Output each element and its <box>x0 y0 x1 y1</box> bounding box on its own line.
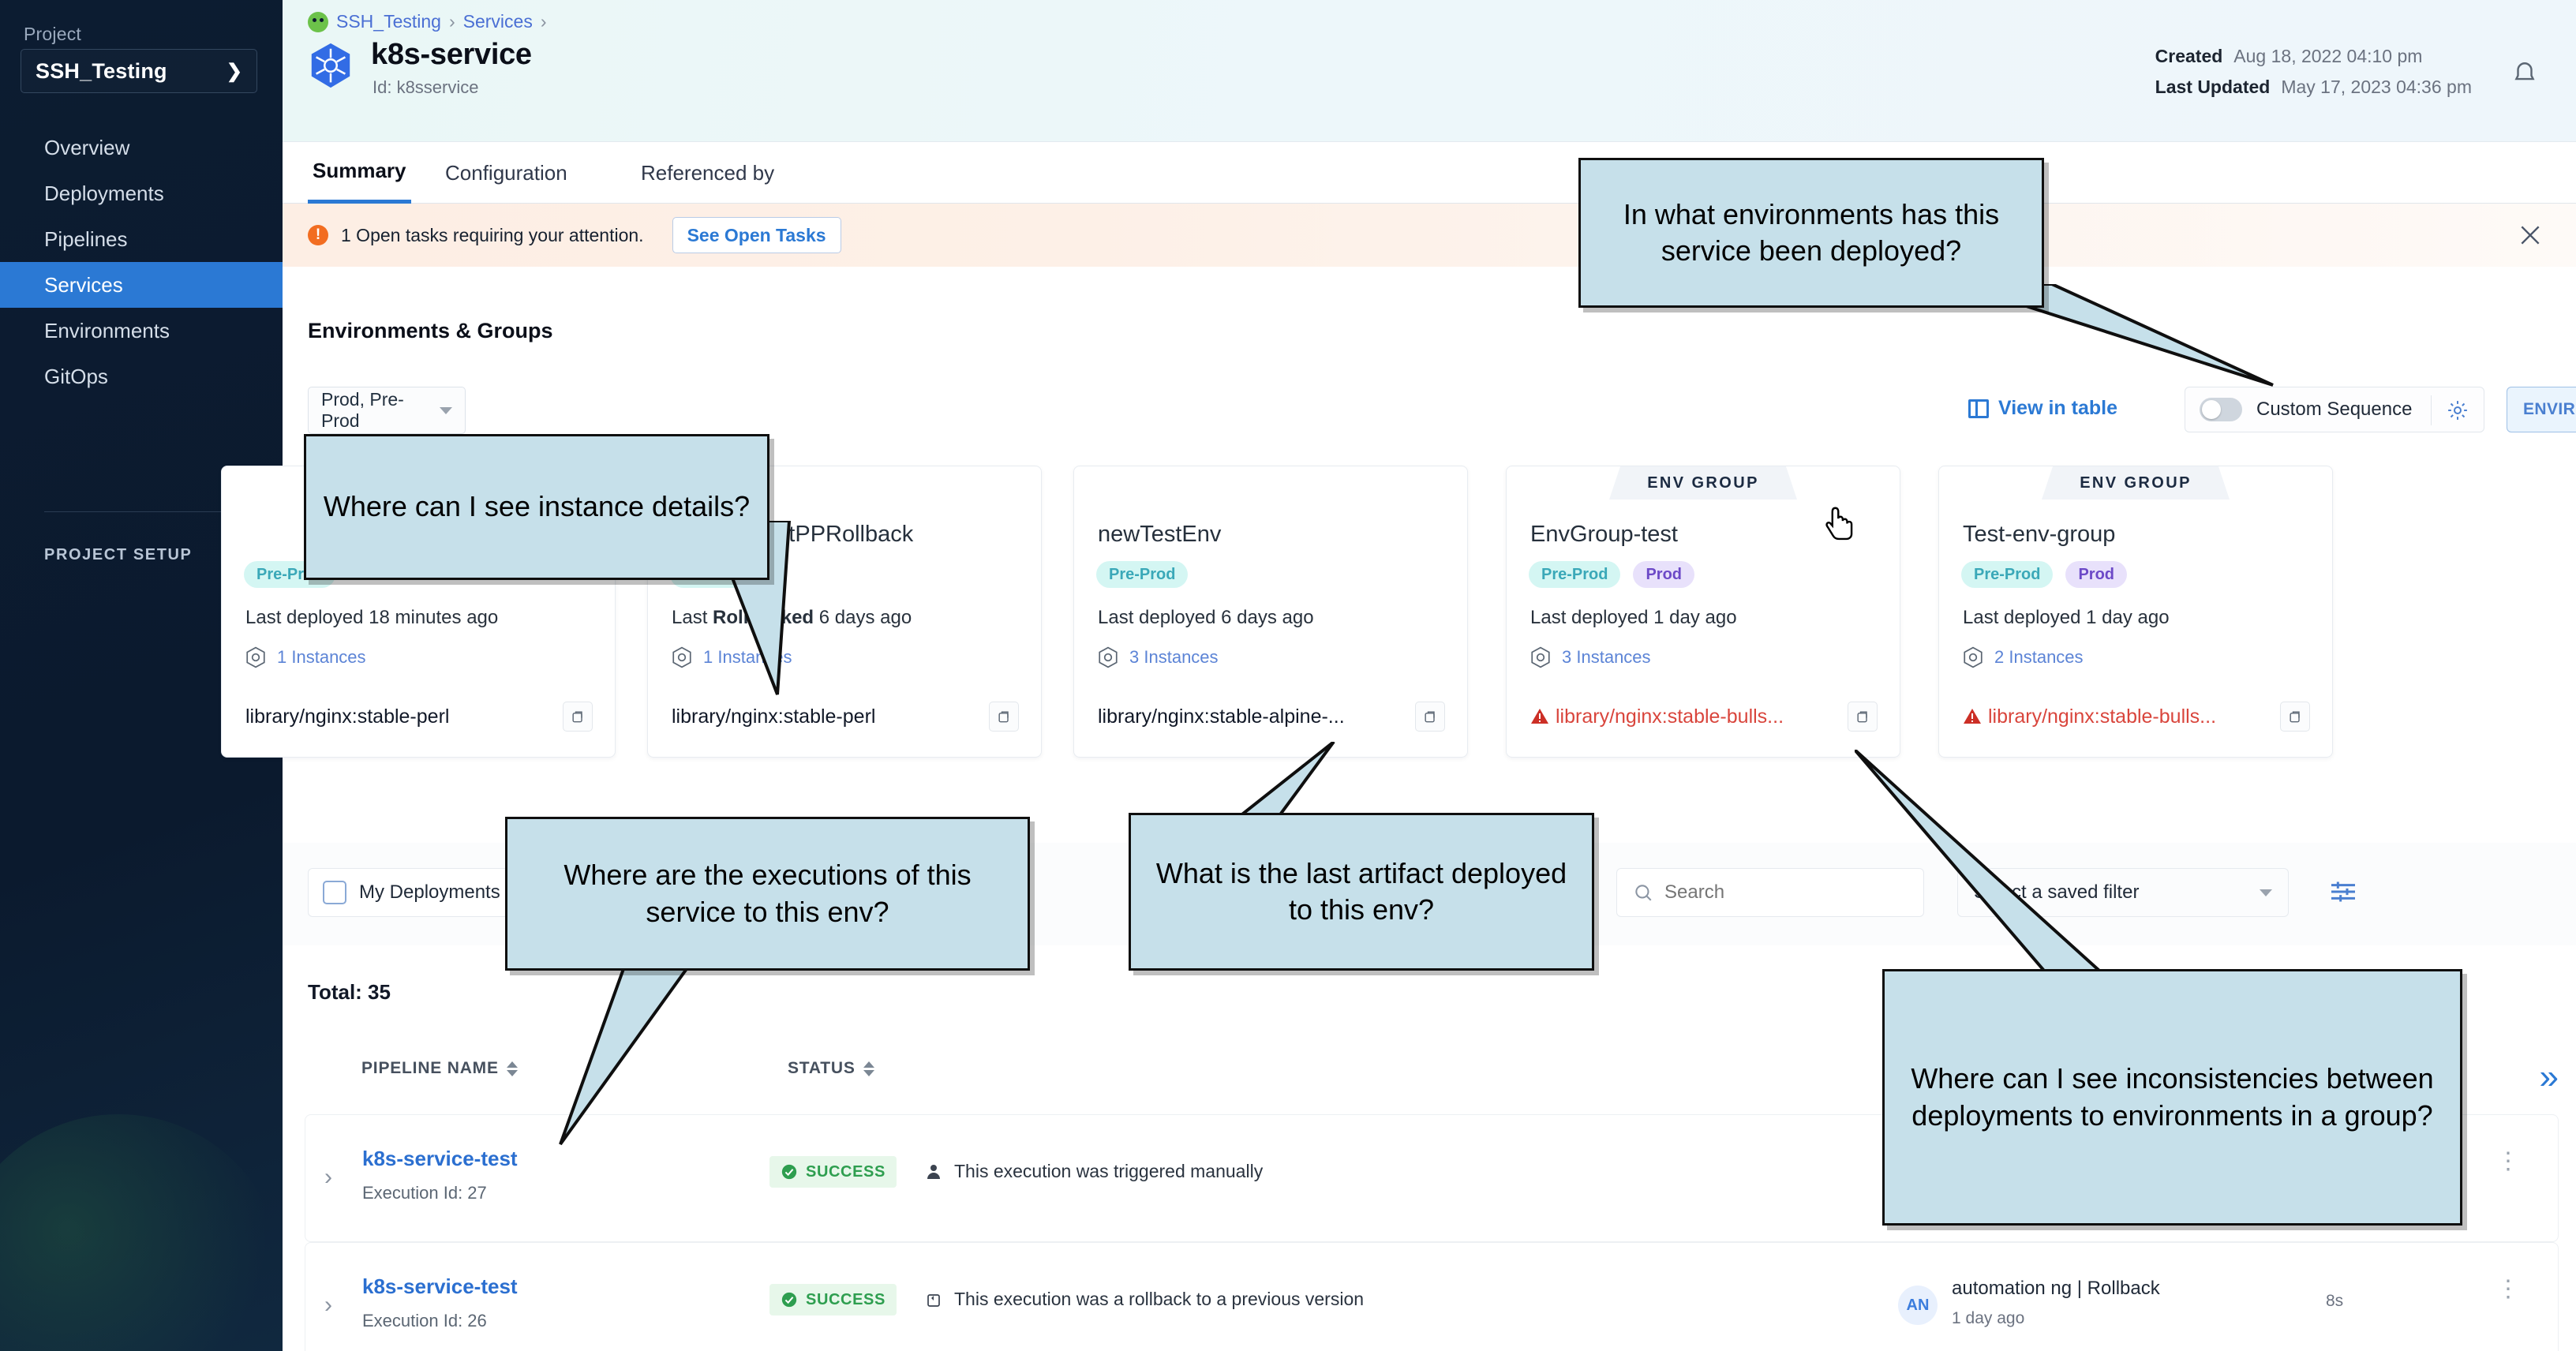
environment-group-card[interactable]: ENV GROUP Test-env-group Pre-Prod Prod L… <box>1938 466 2333 758</box>
instances-icon <box>1530 646 1551 668</box>
callout-tail <box>505 947 742 1152</box>
sidebar-item-overview[interactable]: Overview <box>0 125 283 170</box>
artifact-row: library/nginx:stable-bulls... <box>1530 702 1878 732</box>
breadcrumb-project[interactable]: SSH_Testing <box>336 11 441 32</box>
sidebar-item-label: Pipelines <box>44 227 128 252</box>
sidebar-divider <box>44 511 251 512</box>
copy-icon[interactable] <box>1415 702 1445 732</box>
env-type-tag: Pre-Prod <box>1961 561 2053 588</box>
instances-icon <box>672 646 692 668</box>
environment-group-name: EnvGroup-test <box>1530 522 1678 548</box>
instances-link[interactable]: 3 Instances <box>1530 646 1651 668</box>
close-icon[interactable] <box>2518 223 2543 248</box>
last-deployed-text: Last deployed 1 day ago <box>1530 607 1737 629</box>
chevron-down-icon <box>440 407 452 414</box>
artifact-name-error: library/nginx:stable-bulls... <box>1530 705 1784 728</box>
instances-count: 3 <box>1129 647 1139 667</box>
trigger-info: This execution was a rollback to a previ… <box>924 1289 1364 1310</box>
sidebar-section-project-setup[interactable]: PROJECT SETUP <box>44 546 251 564</box>
breadcrumb-separator-2: › <box>541 11 547 32</box>
deployed-prefix: Last deployed <box>1530 607 1653 628</box>
see-open-tasks-button[interactable]: See Open Tasks <box>672 217 841 253</box>
breadcrumb-separator: › <box>449 11 455 32</box>
callout-executions-question: Where are the executions of this service… <box>505 817 1030 971</box>
pipeline-name-link[interactable]: k8s-service-test <box>362 1147 518 1171</box>
last-updated-label: Last Updated <box>2155 77 2271 98</box>
instances-icon <box>1098 646 1118 668</box>
artifact-name: library/nginx:stable-alpine-... <box>1098 705 1345 728</box>
sidebar-item-environments[interactable]: Environments <box>0 308 283 354</box>
artifact-row: library/nginx:stable-bulls... <box>1963 702 2310 732</box>
project-logo-icon <box>308 12 328 32</box>
column-label: PIPELINE NAME <box>361 1059 499 1078</box>
instances-icon <box>245 646 266 668</box>
sidebar-item-gitops[interactable]: GitOps <box>0 354 283 399</box>
check-circle-icon <box>781 1291 798 1308</box>
copy-icon[interactable] <box>2280 702 2310 732</box>
tab-configuration[interactable]: Configuration <box>440 142 572 204</box>
env-type-tag: Prod <box>2065 561 2127 588</box>
sidebar-item-services[interactable]: Services <box>0 262 283 308</box>
view-mode-segmented-control: ENVIRONMENTS ARTIFACTS <box>2507 387 2576 432</box>
sidebar-item-label: Deployments <box>44 182 164 206</box>
callout-last-artifact-question: What is the last artifact deployed to th… <box>1129 813 1594 971</box>
open-tasks-banner: ! 1 Open tasks requiring your attention.… <box>283 204 2576 267</box>
artifact-row: library/nginx:stable-perl <box>245 702 593 732</box>
deployed-suffix: 1 day ago <box>1653 607 1736 628</box>
instances-label: Instances <box>1576 647 1650 667</box>
service-meta: Created Aug 18, 2022 04:10 pm Last Updat… <box>2155 46 2472 107</box>
rollback-icon <box>924 1290 943 1309</box>
sidebar-section-label: PROJECT SETUP <box>44 546 193 564</box>
sidebar-item-label: GitOps <box>44 365 108 389</box>
trigger-info: This execution was triggered manually <box>924 1161 1263 1182</box>
tab-label: Configuration <box>445 161 567 185</box>
column-header-status[interactable]: STATUS <box>788 1059 874 1078</box>
tab-referenced-by[interactable]: Referenced by <box>636 142 779 204</box>
callout-inconsistencies-question: Where can I see inconsistencies between … <box>1882 969 2462 1226</box>
alert-triangle-icon <box>1530 708 1549 725</box>
environment-name: newTestEnv <box>1098 522 1221 548</box>
my-deployments-checkbox[interactable] <box>323 881 346 904</box>
breadcrumb-services[interactable]: Services <box>463 11 533 32</box>
status-text: SUCCESS <box>806 1163 885 1181</box>
check-circle-icon <box>781 1163 798 1181</box>
column-header-pipeline-name[interactable]: PIPELINE NAME <box>361 1059 518 1078</box>
tab-bar: Summary Configuration Referenced by <box>283 142 2576 204</box>
created-label: Created <box>2155 46 2223 67</box>
sidebar-item-deployments[interactable]: Deployments <box>0 170 283 216</box>
status-text: SUCCESS <box>806 1291 885 1309</box>
tab-summary[interactable]: Summary <box>308 142 411 204</box>
kubernetes-icon <box>306 41 355 90</box>
sidebar-nav: Overview Deployments Pipelines Services … <box>0 125 283 399</box>
callout-tail <box>1855 750 2115 979</box>
instances-link[interactable]: 2 Instances <box>1963 646 2084 668</box>
instances-count: 1 <box>277 647 286 667</box>
created-value: Aug 18, 2022 04:10 pm <box>2233 46 2422 67</box>
custom-sequence-label: Custom Sequence <box>2256 399 2412 421</box>
environment-group-name: Test-env-group <box>1963 522 2115 548</box>
env-filter-select[interactable]: Prod, Pre-Prod <box>308 387 466 434</box>
copy-icon[interactable] <box>563 702 593 732</box>
segment-environments[interactable]: ENVIRONMENTS <box>2507 387 2576 432</box>
deployed-prefix: Last <box>672 607 713 628</box>
instances-link[interactable]: 3 Instances <box>1098 646 1219 668</box>
artifact-text: library/nginx:stable-bulls... <box>1988 705 2216 728</box>
page-title: k8s-service <box>371 38 532 72</box>
environments-section-title: Environments & Groups <box>308 319 553 343</box>
notification-bell-icon[interactable] <box>2511 60 2538 87</box>
instances-icon <box>1963 646 1983 668</box>
deployed-prefix: Last deployed <box>245 607 369 628</box>
column-label: STATUS <box>788 1059 856 1078</box>
environment-card[interactable]: newTestEnv Pre-Prod Last deployed 6 days… <box>1073 466 1468 758</box>
deployed-prefix: Last deployed <box>1098 607 1221 628</box>
env-type-tag: Pre-Prod <box>1096 561 1188 588</box>
filter-settings-icon[interactable] <box>2327 876 2360 908</box>
sidebar-item-pipelines[interactable]: Pipelines <box>0 216 283 262</box>
trigger-text: This execution was triggered manually <box>954 1161 1263 1182</box>
avatar: AN <box>1898 1286 1938 1325</box>
instances-label: Instances <box>291 647 365 667</box>
view-in-table-label: View in table <box>1998 397 2117 420</box>
search-icon <box>1633 882 1653 903</box>
executed-by: automation ng | Rollback <box>1952 1278 2160 1300</box>
user-icon <box>924 1162 943 1181</box>
status-badge: SUCCESS <box>769 1284 897 1315</box>
execution-id: Execution Id: 26 <box>362 1311 487 1331</box>
env-group-ribbon: ENV GROUP <box>1609 466 1797 500</box>
view-in-table-button[interactable]: View in table <box>1968 397 2117 420</box>
copy-icon[interactable] <box>989 702 1019 732</box>
alert-triangle-icon <box>1963 708 1982 725</box>
artifact-text: library/nginx:stable-bulls... <box>1556 705 1784 728</box>
sidebar-item-label: Overview <box>44 136 129 160</box>
last-deployed-text: Last deployed 18 minutes ago <box>245 607 498 629</box>
expand-row-chevron-icon[interactable]: › <box>324 1292 332 1319</box>
deployed-suffix: 18 minutes ago <box>369 607 498 628</box>
project-name: SSH_Testing <box>36 59 167 84</box>
instances-label: Instances <box>2009 647 2083 667</box>
open-tasks-text: 1 Open tasks requiring your attention. <box>341 225 644 246</box>
project-label: Project <box>24 24 81 45</box>
artifact-name: library/nginx:stable-perl <box>672 705 875 728</box>
trigger-text: This execution was a rollback to a previ… <box>954 1289 1364 1310</box>
my-deployments-label: My Deployments <box>359 881 500 904</box>
callout-instance-details-question: Where can I see instance details? <box>304 434 769 580</box>
instances-count: 2 <box>1994 647 2004 667</box>
expand-row-chevron-icon[interactable]: › <box>324 1164 332 1191</box>
gear-icon[interactable] <box>2446 399 2469 422</box>
service-id: Id: k8sservice <box>373 77 479 98</box>
my-deployments-checkbox-wrap[interactable]: My Deployments <box>308 868 529 917</box>
execution-id: Execution Id: 27 <box>362 1183 487 1203</box>
artifact-row: library/nginx:stable-perl <box>672 702 1019 732</box>
row-menu-icon[interactable]: ⋮ <box>2496 1281 2520 1297</box>
project-selector[interactable]: SSH_Testing ❯ <box>21 49 257 93</box>
copy-icon[interactable] <box>1848 702 1878 732</box>
last-deployed-text: Last deployed 6 days ago <box>1098 607 1314 629</box>
chevron-right-icon: ❯ <box>227 60 242 83</box>
last-deployed-text: Last deployed 1 day ago <box>1963 607 2170 629</box>
pipeline-name-link[interactable]: k8s-service-test <box>362 1274 518 1299</box>
sidebar-item-label: Environments <box>44 319 170 343</box>
instances-label: Instances <box>1144 647 1218 667</box>
instances-link[interactable]: 1 Instances <box>245 646 366 668</box>
env-type-tag: Prod <box>1633 561 1694 588</box>
env-type-tag: Pre-Prod <box>1529 561 1620 588</box>
deployed-prefix: Last deployed <box>1963 607 2086 628</box>
breadcrumb: SSH_Testing › Services › <box>308 11 547 32</box>
artifact-row: library/nginx:stable-alpine-... <box>1098 702 1445 732</box>
executed-when: 1 day ago <box>1952 1309 2024 1328</box>
custom-sequence-toggle[interactable] <box>2200 398 2242 421</box>
env-filter-value: Prod, Pre-Prod <box>321 389 440 432</box>
chevron-down-icon <box>2260 889 2272 896</box>
warning-icon: ! <box>308 225 328 245</box>
deployed-suffix: 1 day ago <box>2086 607 2169 628</box>
sidebar-item-label: Services <box>44 273 123 298</box>
status-badge: SUCCESS <box>769 1156 897 1188</box>
sort-icon[interactable] <box>863 1061 874 1076</box>
row-menu-icon[interactable]: ⋮ <box>2496 1153 2520 1169</box>
divider <box>2431 395 2432 425</box>
table-row[interactable]: › k8s-service-test Execution Id: 26 SUCC… <box>305 1242 2559 1351</box>
page-header: SSH_Testing › Services › k8s-service Id:… <box>283 0 2576 142</box>
cursor-pointer-icon <box>1823 505 1859 549</box>
total-count: Total: 35 <box>308 980 391 1005</box>
last-updated-value: May 17, 2023 04:36 pm <box>2281 77 2472 98</box>
env-group-ribbon: ENV GROUP <box>2042 466 2230 500</box>
artifact-name: library/nginx:stable-perl <box>245 705 449 728</box>
artifact-name-error: library/nginx:stable-bulls... <box>1963 705 2216 728</box>
duration: 8s <box>2326 1292 2343 1311</box>
tab-label: Summary <box>313 159 406 183</box>
tab-label: Referenced by <box>641 161 774 185</box>
table-icon <box>1968 399 1989 418</box>
callout-environments-question: In what environments has this service be… <box>1578 158 2044 308</box>
deployed-suffix: 6 days ago <box>1221 607 1313 628</box>
instances-count: 3 <box>1562 647 1571 667</box>
